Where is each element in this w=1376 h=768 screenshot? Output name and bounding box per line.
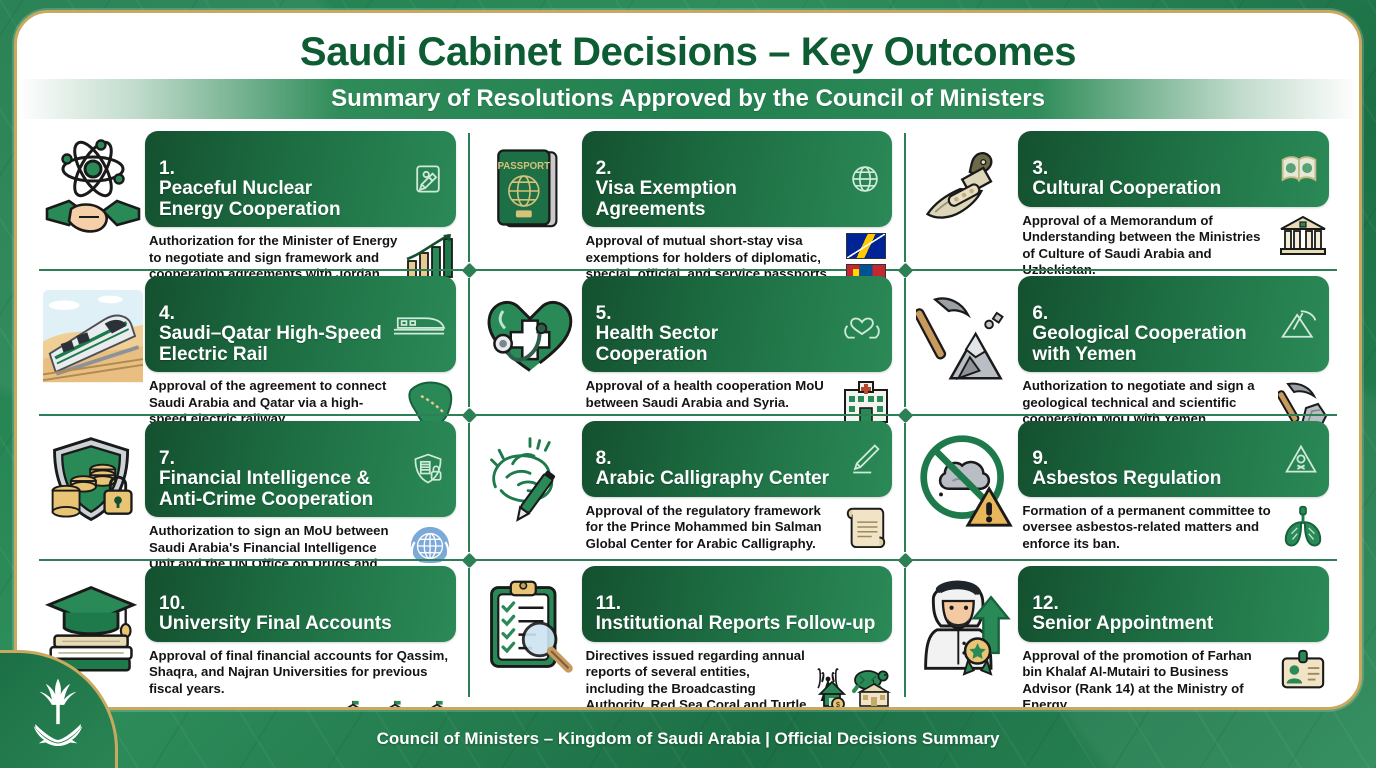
signed-agreement-icon <box>410 161 446 197</box>
card-desc-row: Approval of the promotion of Farhan bin … <box>1018 648 1329 710</box>
decision-card-2[interactable]: PASSPORT 2. Visa Exemption Agreements <box>470 125 907 270</box>
decision-card-11[interactable]: 11. Institutional Reports Follow-up Dire… <box>470 560 907 705</box>
card-number: 1. <box>159 158 175 179</box>
card-number: 12. <box>1032 593 1058 614</box>
card-header: 5. Health Sector Cooperation <box>582 276 893 372</box>
subtitle-bar: Summary of Resolutions Approved by the C… <box>17 79 1359 119</box>
card-number: 11. <box>596 593 621 614</box>
card-title: 10. University Final Accounts <box>159 573 392 635</box>
real-estate-fund-icon: $ <box>820 682 844 710</box>
card-body: 8. Arabic Calligraphy Center Approval of… <box>582 421 893 552</box>
card-body: 9. Asbestos Regulation Formation of a pe… <box>1018 421 1329 552</box>
card-number: 8. <box>596 448 612 469</box>
passport-label: PASSPORT <box>497 161 550 172</box>
university-item: Shaqra <box>376 699 414 710</box>
arabic-calligraphy-pen-icon <box>478 427 582 535</box>
card-desc-row: Approval of final financial accounts for… <box>145 648 456 698</box>
card-header: 2. Visa Exemption Agreements <box>582 131 893 227</box>
card-description: Formation of a permanent committee to ov… <box>1018 503 1271 553</box>
card-number: 5. <box>596 303 612 324</box>
atom-handshake-icon <box>41 137 145 245</box>
card-body: 11. Institutional Reports Follow-up Dire… <box>582 566 893 710</box>
card-title-text: Visa Exemption Agreements <box>596 178 737 220</box>
card-desc-row: Formation of a permanent committee to ov… <box>1018 503 1329 553</box>
fountain-pen-nib-icon <box>846 441 882 477</box>
card-title: 8. Arabic Calligraphy Center <box>596 428 829 490</box>
card-title: 11. Institutional Reports Follow-up <box>596 573 876 635</box>
card-description: Approval of the regulatory framework for… <box>582 503 835 553</box>
card-title-text: Health Sector Cooperation <box>596 323 718 365</box>
bosnia-and-herzegovina-flag <box>846 233 886 259</box>
card-body: 12. Senior Appointment Approval of the p… <box>1018 566 1329 710</box>
clipboard-checklist-magnifier-icon <box>478 572 582 680</box>
card-header: 6. Geological Cooperation with Yemen <box>1018 276 1329 372</box>
card-title-text: Financial Intelligence & Anti-Crime Coop… <box>159 468 373 510</box>
decision-card-12[interactable]: 12. Senior Appointment Approval of the p… <box>906 560 1343 705</box>
museum-icon <box>1277 213 1329 257</box>
card-desc-row: Directives issued regarding annual repor… <box>582 648 893 710</box>
card-desc-row: Approval of the regulatory framework for… <box>582 503 893 553</box>
card-number: 3. <box>1032 158 1048 179</box>
card-title: 6. Geological Cooperation with Yemen <box>1032 283 1246 365</box>
university-item: Qassim <box>334 699 372 710</box>
card-header: 1. Peaceful Nuclear Energy Cooperation <box>145 131 456 227</box>
card-header: 12. Senior Appointment <box>1018 566 1329 642</box>
card-title-text: Peaceful Nuclear Energy Cooperation <box>159 178 341 220</box>
card-number: 6. <box>1032 303 1048 324</box>
card-header: 4. Saudi–Qatar High-Speed Electric Rail <box>145 276 456 372</box>
header: Saudi Cabinet Decisions – Key Outcomes S… <box>17 13 1359 119</box>
mountain-pickaxe-outline-icon <box>1279 307 1319 341</box>
card-number: 4. <box>159 303 175 324</box>
decision-card-4[interactable]: 4. Saudi–Qatar High-Speed Electric Rail … <box>33 270 470 415</box>
card-description: Approval of a health cooperation MoU bet… <box>582 378 835 411</box>
university-buildings-icon: Qassim Shaqra <box>145 699 456 710</box>
passport-icon: PASSPORT <box>478 137 582 245</box>
card-title-text: Institutional Reports Follow-up <box>596 613 876 634</box>
shield-coins-lock-icon <box>41 427 145 535</box>
card-title-text: Saudi–Qatar High-Speed Electric Rail <box>159 323 382 365</box>
card-body: 10. University Final Accounts Approval o… <box>145 566 456 710</box>
card-header: 8. Arabic Calligraphy Center <box>582 421 893 497</box>
card-number: 9. <box>1032 448 1048 469</box>
card-description: Directives issued regarding annual repor… <box>582 648 811 710</box>
card-number: 2. <box>596 158 612 179</box>
card-header: 11. Institutional Reports Follow-up <box>582 566 893 642</box>
card-title: 9. Asbestos Regulation <box>1032 428 1221 490</box>
card-number: 10. <box>159 593 185 614</box>
card-title: 3. Cultural Cooperation <box>1032 138 1221 200</box>
broadcast-turtle-house-university-icons: $ <box>816 648 892 710</box>
card-title: 12. Senior Appointment <box>1032 573 1213 635</box>
train-outline-icon <box>392 310 446 338</box>
card-description: Approval of final financial accounts for… <box>145 648 456 698</box>
toxic-hazard-triangle-icon <box>1283 441 1319 477</box>
decision-card-10[interactable]: 10. University Final Accounts Approval o… <box>33 560 470 705</box>
page-title: Saudi Cabinet Decisions – Key Outcomes <box>17 21 1359 79</box>
card-body: 5. Health Sector Cooperation Approval of… <box>582 276 893 424</box>
card-title-text: Geological Cooperation with Yemen <box>1032 323 1246 365</box>
card-title-text: Asbestos Regulation <box>1032 468 1221 489</box>
university-item: Najran <box>418 699 456 710</box>
saudi-official-promotion-icon <box>914 572 1018 680</box>
id-badge-icon <box>1277 648 1329 692</box>
card-header: 3. Cultural Cooperation <box>1018 131 1329 207</box>
decision-card-5[interactable]: 5. Health Sector Cooperation Approval of… <box>470 270 907 415</box>
card-body: 3. Cultural Cooperation Approval of a Me… <box>1018 131 1329 279</box>
decision-card-6[interactable]: 6. Geological Cooperation with Yemen Aut… <box>906 270 1343 415</box>
card-title: 1. Peaceful Nuclear Energy Cooperation <box>159 138 341 220</box>
secure-document-lock-icon <box>410 451 446 487</box>
globe-icon <box>848 162 882 196</box>
footer: Council of Ministers – Kingdom of Saudi … <box>0 710 1376 768</box>
pickaxe-mountain-icon <box>914 282 1018 390</box>
main-panel: Saudi Cabinet Decisions – Key Outcomes S… <box>14 10 1362 710</box>
card-description: Approval of the promotion of Farhan bin … <box>1018 648 1271 710</box>
card-title-text: Cultural Cooperation <box>1032 178 1221 199</box>
card-title: 2. Visa Exemption Agreements <box>596 138 841 220</box>
hands-heart-icon <box>842 307 882 341</box>
subtitle-text: Summary of Resolutions Approved by the C… <box>331 85 1045 113</box>
footer-text: Council of Ministers – Kingdom of Saudi … <box>377 729 1000 749</box>
card-body: 6. Geological Cooperation with Yemen Aut… <box>1018 276 1329 428</box>
no-asbestos-warning-icon <box>914 427 1018 535</box>
card-title-text: Senior Appointment <box>1032 613 1213 634</box>
scroll-document-icon <box>840 503 892 549</box>
open-book-icon <box>1279 152 1319 186</box>
card-header: 9. Asbestos Regulation <box>1018 421 1329 497</box>
card-number: 7. <box>159 448 175 469</box>
decision-card-9[interactable]: 9. Asbestos Regulation Formation of a pe… <box>906 415 1343 560</box>
decision-card-1[interactable]: 1. Peaceful Nuclear Energy Cooperation A… <box>33 125 470 270</box>
decision-card-7[interactable]: 7. Financial Intelligence & Anti-Crime C… <box>33 415 470 560</box>
janbiya-dagger-icon <box>914 137 1018 245</box>
card-title-text: University Final Accounts <box>159 613 392 634</box>
high-speed-train-icon <box>41 282 145 390</box>
lungs-icon <box>1277 503 1329 549</box>
card-title: 5. Health Sector Cooperation <box>596 283 835 365</box>
decision-card-8[interactable]: 8. Arabic Calligraphy Center Approval of… <box>470 415 907 560</box>
card-header: 10. University Final Accounts <box>145 566 456 642</box>
card-body: 4. Saudi–Qatar High-Speed Electric Rail … <box>145 276 456 430</box>
card-title: 7. Financial Intelligence & Anti-Crime C… <box>159 428 373 510</box>
decisions-grid: 1. Peaceful Nuclear Energy Cooperation A… <box>17 119 1359 709</box>
svg-text:$: $ <box>836 702 840 709</box>
heart-stethoscope-icon <box>478 282 582 390</box>
card-title-text: Arabic Calligraphy Center <box>596 468 829 489</box>
card-title: 4. Saudi–Qatar High-Speed Electric Rail <box>159 283 382 365</box>
decision-card-3[interactable]: 3. Cultural Cooperation Approval of a Me… <box>906 125 1343 270</box>
card-header: 7. Financial Intelligence & Anti-Crime C… <box>145 421 456 517</box>
